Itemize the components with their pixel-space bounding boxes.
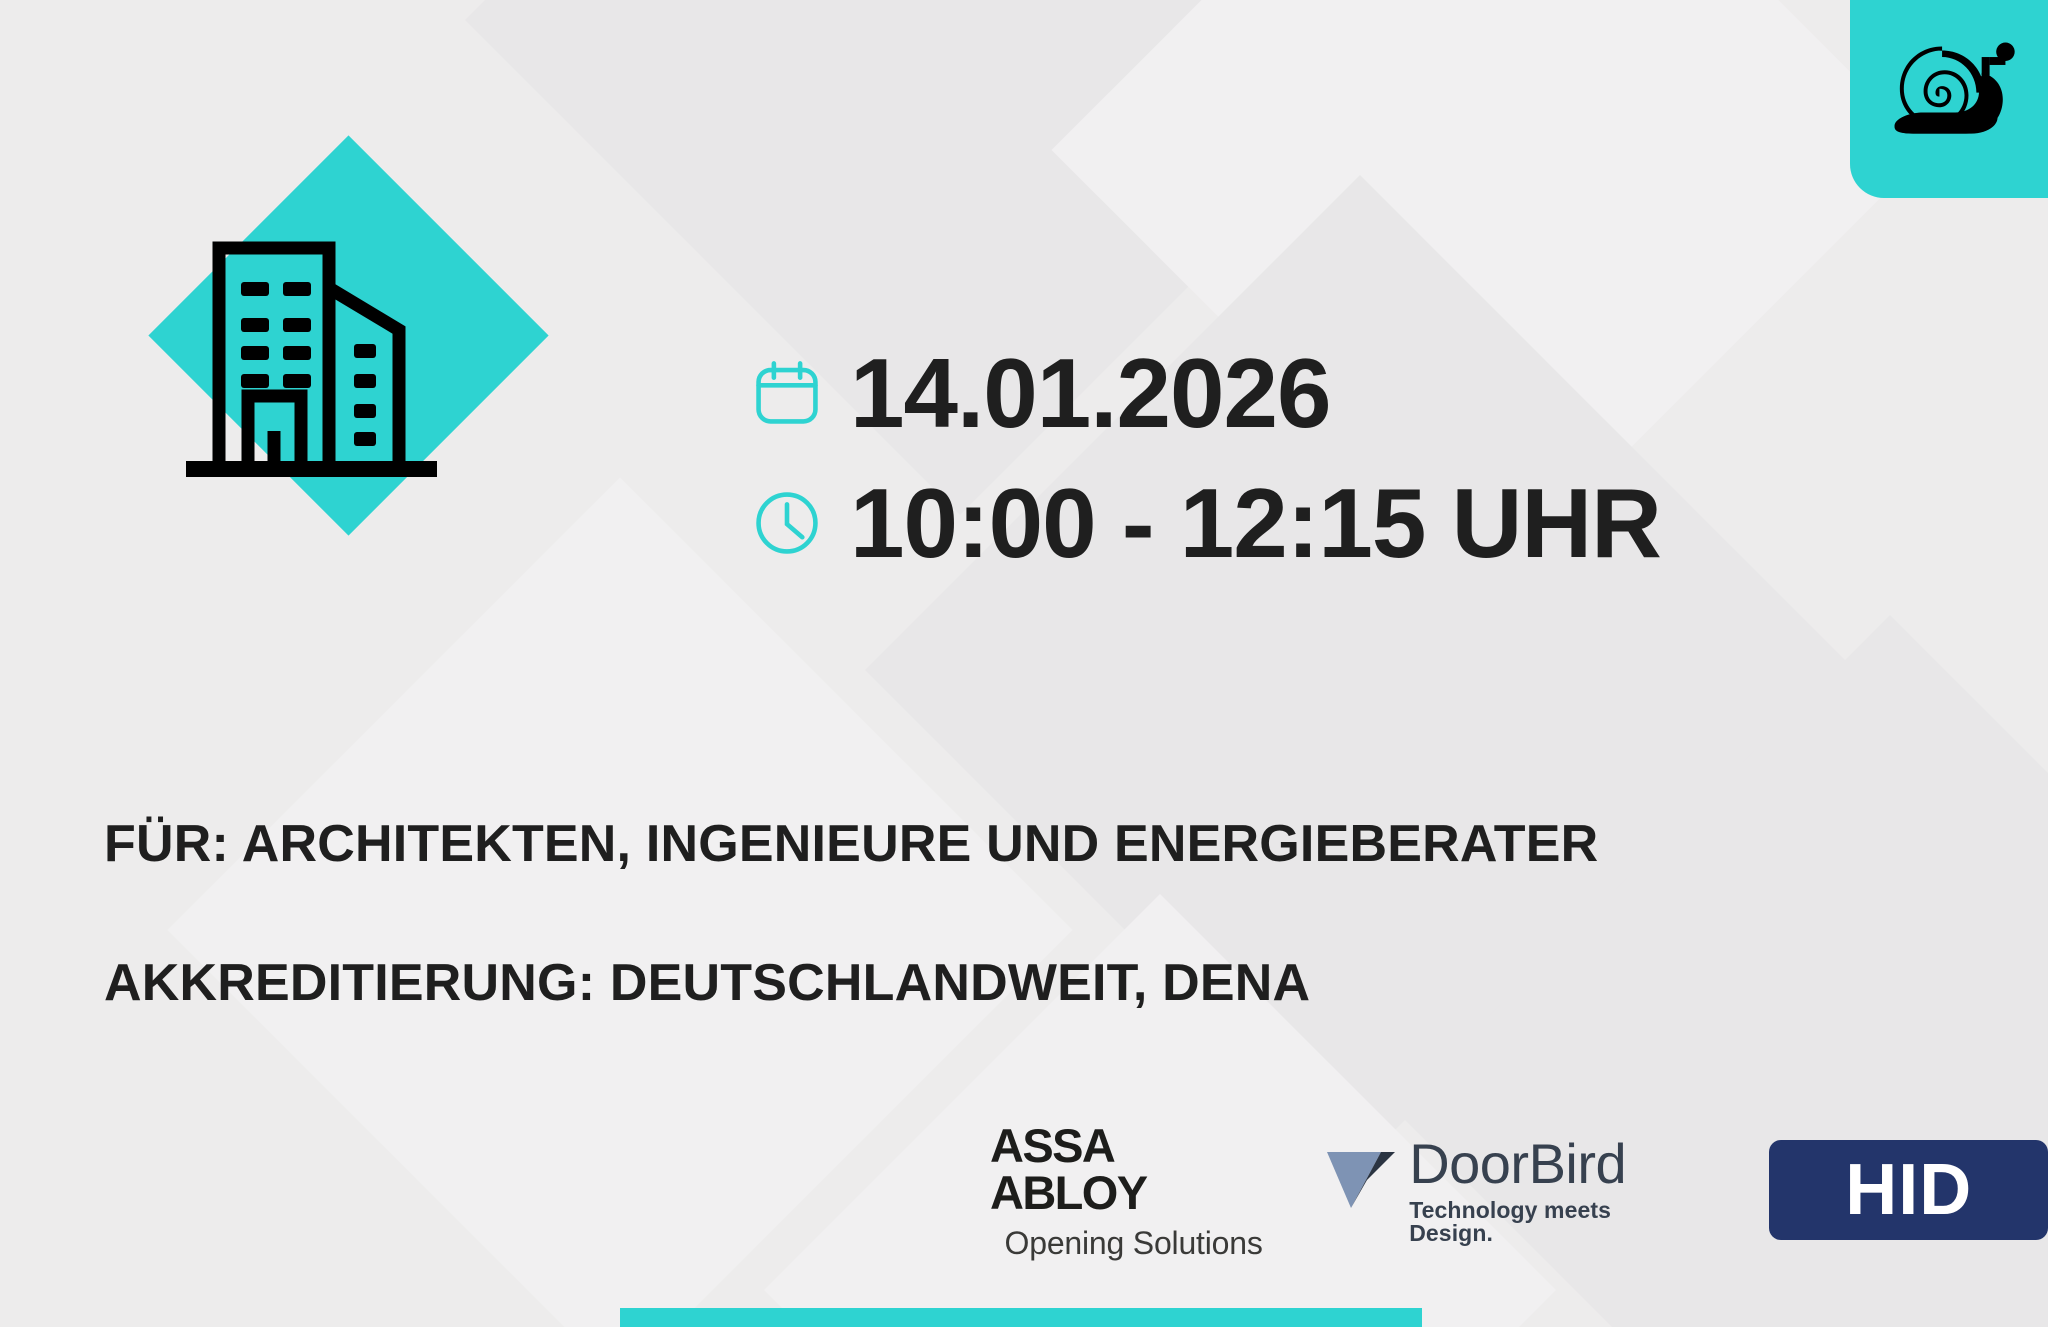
doorbird-wordmark: DoorBird — [1409, 1136, 1699, 1192]
event-details: FÜR: ARCHITEKTEN, INGENIEURE UND ENERGIE… — [104, 812, 1904, 1016]
doorbird-bird-icon — [1325, 1142, 1399, 1212]
partner-logos: ASSA ABLOY Opening Solutions DoorBird Te… — [990, 1125, 2048, 1255]
snail-icon — [1884, 28, 2016, 160]
partner-logo-hid[interactable]: HID — [1769, 1140, 2048, 1240]
background-diamond-mid — [865, 175, 1855, 1165]
event-date-text: 14.01.2026 — [850, 344, 1330, 442]
hid-wordmark: HID — [1845, 1154, 1972, 1226]
doorbird-tagline: Technology meets Design. — [1409, 1199, 1699, 1245]
doorbird-text-group: DoorBird Technology meets Design. — [1409, 1136, 1699, 1245]
event-time-row: 10:00 - 12:15 UHR — [752, 458, 1661, 588]
assa-abloy-tagline: Opening Solutions — [1005, 1227, 1263, 1259]
brand-logo-tile[interactable] — [1850, 0, 2048, 198]
audience-line: FÜR: ARCHITEKTEN, INGENIEURE UND ENERGIE… — [104, 812, 1904, 877]
event-announcement-graphic: 14.01.2026 10:00 - 12:15 UHR FÜR: ARCHIT… — [0, 0, 2048, 1327]
event-date-row: 14.01.2026 — [752, 328, 1661, 458]
building-illustration — [100, 190, 620, 520]
event-time-text: 10:00 - 12:15 UHR — [850, 474, 1661, 572]
event-datetime: 14.01.2026 10:00 - 12:15 UHR — [752, 328, 1661, 588]
clock-icon — [752, 488, 822, 558]
calendar-icon — [752, 358, 822, 428]
bottom-accent-bar — [620, 1308, 1422, 1327]
assa-abloy-wordmark: ASSA ABLOY — [990, 1122, 1277, 1216]
accreditation-line: AKKREDITIERUNG: DEUTSCHLANDWEIT, DENA — [104, 951, 1904, 1016]
partner-logo-assa-abloy[interactable]: ASSA ABLOY Opening Solutions — [990, 1122, 1277, 1259]
partner-logo-doorbird[interactable]: DoorBird Technology meets Design. — [1325, 1136, 1699, 1245]
office-building-icon — [186, 226, 516, 481]
